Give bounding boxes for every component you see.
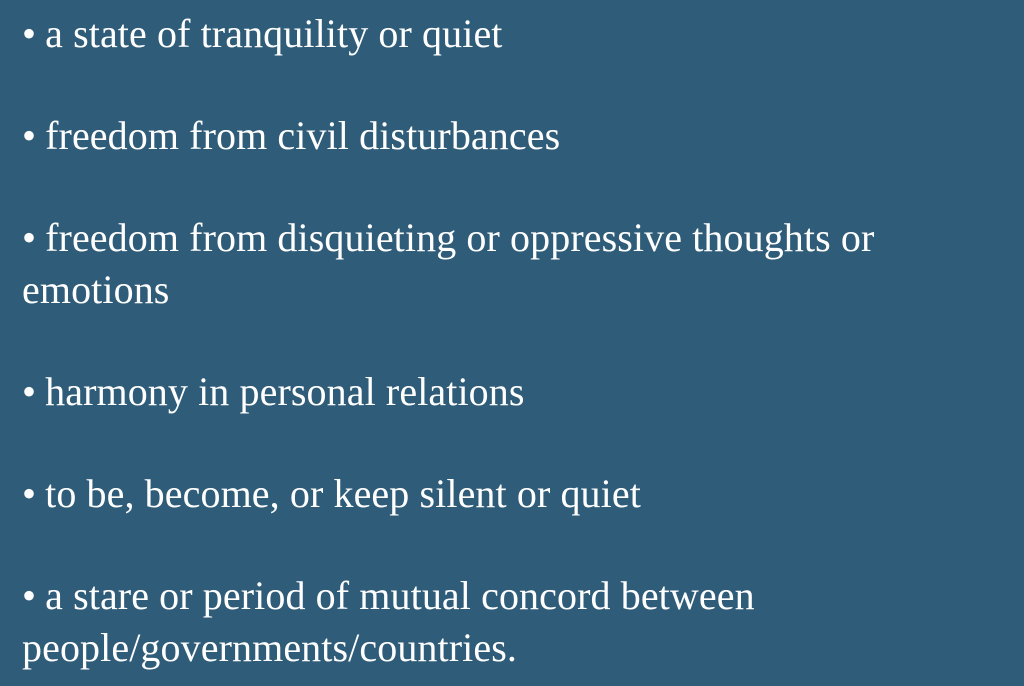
- definition-bullet-list: •a state of tranquility or quiet •freedo…: [22, 8, 1012, 674]
- bullet-point-icon: •: [22, 369, 36, 414]
- list-item-text: a stare or period of mutual concord betw…: [22, 573, 755, 670]
- bullet-point-icon: •: [22, 113, 36, 158]
- list-item-text: to be, become, or keep silent or quiet: [45, 471, 641, 516]
- list-item-text: harmony in personal relations: [45, 369, 524, 414]
- list-item: •a stare or period of mutual concord bet…: [22, 570, 1012, 674]
- slide-canvas: •a state of tranquility or quiet •freedo…: [0, 0, 1024, 686]
- bullet-point-icon: •: [22, 11, 36, 56]
- bullet-point-icon: •: [22, 471, 36, 516]
- list-item-text: freedom from disquieting or oppressive t…: [22, 215, 874, 312]
- list-item: •freedom from civil disturbances: [22, 110, 1012, 162]
- list-item: •harmony in personal relations: [22, 366, 1012, 418]
- list-item-text: freedom from civil disturbances: [45, 113, 560, 158]
- list-item: •to be, become, or keep silent or quiet: [22, 468, 1012, 520]
- bullet-point-icon: •: [22, 573, 36, 618]
- list-item: •a state of tranquility or quiet: [22, 8, 1012, 60]
- list-item: •freedom from disquieting or oppressive …: [22, 212, 1012, 316]
- list-item-text: a state of tranquility or quiet: [45, 11, 502, 56]
- bullet-point-icon: •: [22, 215, 36, 260]
